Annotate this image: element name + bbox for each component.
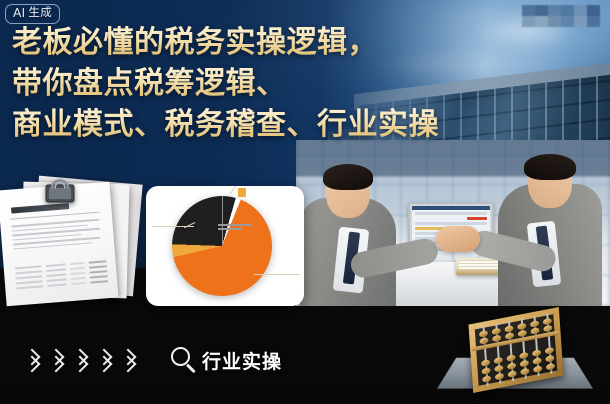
search-keyword-group: 行业实操	[170, 346, 282, 374]
watermark-tile	[587, 16, 600, 27]
binder-clip-icon	[42, 176, 78, 204]
watermark-tile	[548, 16, 561, 27]
chevron-right-icon	[98, 349, 110, 371]
watermark-tile	[548, 5, 561, 16]
search-keyword-label: 行业实操	[202, 347, 282, 374]
headline-line-3: 商业模式、税务稽查、行业实操	[12, 104, 610, 145]
watermark-tile	[535, 16, 548, 27]
watermark-tile	[587, 5, 600, 16]
headline-block: 老板必懂的税务实操逻辑， 带你盘点税筹逻辑、 商业模式、税务稽查、行业实操	[0, 22, 610, 145]
watermark-tile	[522, 5, 535, 16]
watermark-tile	[535, 5, 548, 16]
watermark-tile	[561, 5, 574, 16]
watermark-tile	[522, 16, 535, 27]
watermark-tile	[574, 5, 587, 16]
magnifier-handle	[186, 363, 196, 373]
pie-chart-inner-label	[218, 224, 252, 232]
magnifier-icon	[170, 346, 198, 374]
chevron-group	[26, 349, 134, 371]
business-handshake-photo	[296, 140, 610, 306]
chevron-right-icon	[122, 349, 134, 371]
ai-badge-han: 生成	[28, 8, 52, 20]
businessman-left	[300, 166, 430, 306]
pie-slice-amber-tag	[238, 188, 246, 197]
document-rule	[10, 212, 100, 220]
hair	[524, 154, 576, 180]
chevron-right-icon	[74, 349, 86, 371]
stacked-tax-documents	[0, 172, 144, 300]
watermark-tile	[574, 16, 587, 27]
document-title-bar	[11, 203, 69, 214]
headline-line-2: 带你盘点税筹逻辑、	[12, 63, 610, 104]
watermark-tile	[561, 16, 574, 27]
ai-generated-badge: AI 生成	[5, 4, 60, 24]
footer-row: 行业实操	[0, 338, 610, 382]
document-text-lines	[11, 219, 101, 253]
pie-callout-line	[152, 226, 194, 227]
blurred-watermark	[522, 5, 600, 27]
businessman-right	[466, 154, 602, 306]
chevron-right-icon	[26, 349, 38, 371]
handshake	[436, 226, 480, 252]
chevron-right-icon	[50, 349, 62, 371]
document-table	[15, 260, 109, 292]
course-banner: AI 生成 老板必懂的税务实操逻辑， 带你盘点税筹逻辑、 商业模式、税务稽查、行…	[0, 0, 610, 404]
pie-chart-card	[146, 186, 304, 306]
hair	[323, 164, 373, 190]
headline-line-1: 老板必懂的税务实操逻辑，	[12, 22, 610, 63]
ai-badge-latin: AI	[13, 7, 25, 20]
pie-callout-line	[254, 274, 300, 275]
